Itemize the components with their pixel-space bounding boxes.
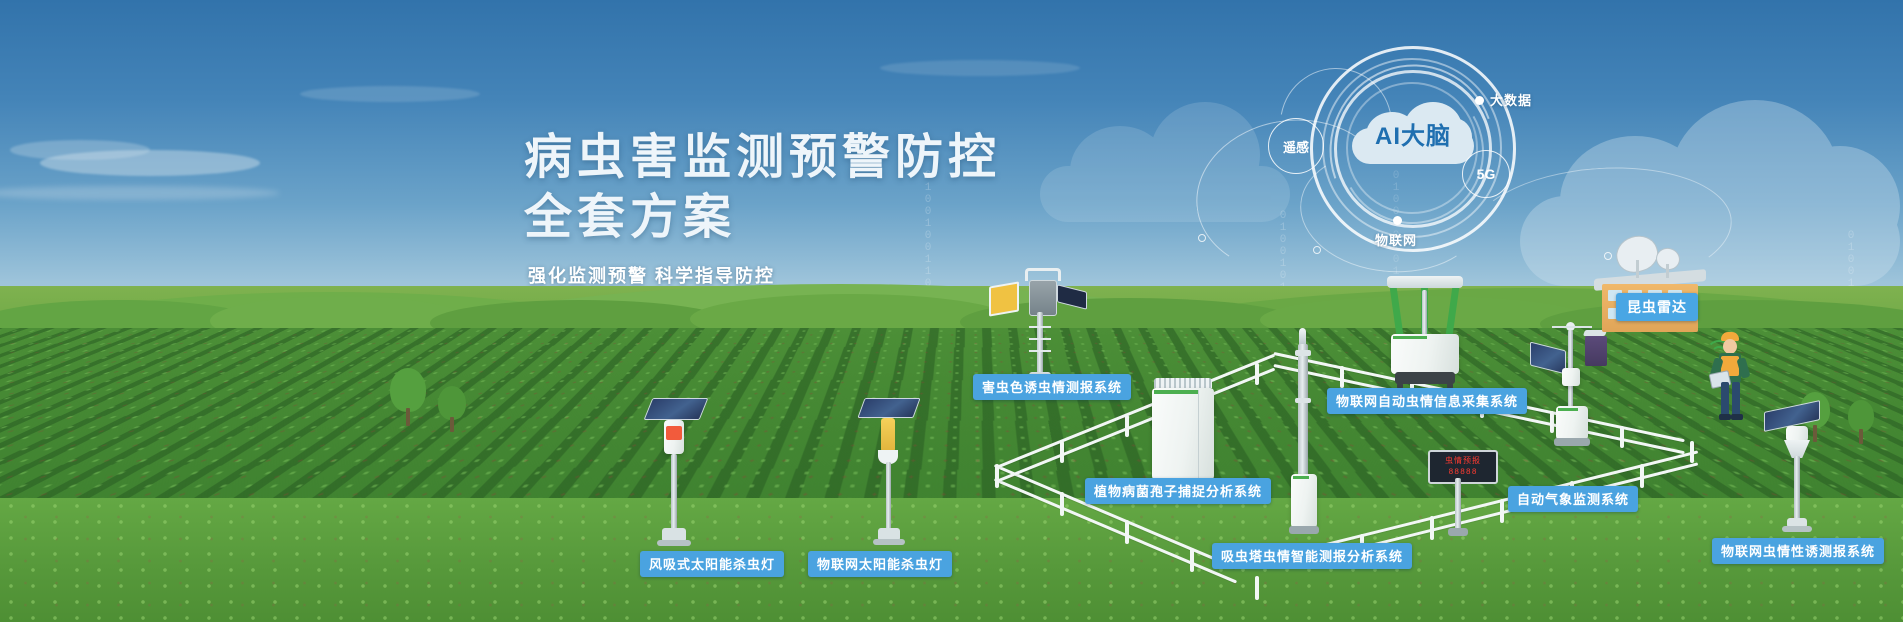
worker-boot bbox=[1719, 414, 1731, 420]
rain-cover bbox=[1387, 276, 1463, 288]
lamp-foot bbox=[657, 540, 691, 546]
label-wind-suction-solar-lamp[interactable]: 风吸式太阳能杀虫灯 bbox=[640, 551, 784, 577]
label-color-lure-forecast[interactable]: 害虫色诱虫情测报系统 bbox=[973, 374, 1131, 400]
lamp-tube bbox=[881, 418, 895, 452]
device-pole bbox=[1037, 312, 1043, 374]
label-iot-auto-pest-collector[interactable]: 物联网自动虫情信息采集系统 bbox=[1327, 388, 1527, 414]
brand-stripe bbox=[1558, 408, 1578, 411]
collector-body bbox=[1391, 334, 1459, 374]
device-pole bbox=[1794, 456, 1800, 520]
dish-arm bbox=[1666, 264, 1669, 278]
led-board-pole bbox=[1455, 478, 1461, 532]
label-auto-weather-station[interactable]: 自动气象监测系统 bbox=[1508, 486, 1638, 512]
infographic-banner: 010010011010 0100101101101 01001010101 0… bbox=[0, 0, 1903, 622]
ladder-rung bbox=[1029, 326, 1051, 328]
device-iot-solar-lamp[interactable] bbox=[855, 398, 925, 548]
lamp-pole bbox=[671, 454, 677, 530]
pheromone-head bbox=[1786, 426, 1808, 442]
tower-collar bbox=[1295, 350, 1311, 356]
field-equipment-box bbox=[1585, 336, 1607, 366]
spore-vent bbox=[1154, 378, 1212, 388]
solar-panel bbox=[644, 398, 709, 420]
lamp-pole bbox=[886, 462, 891, 530]
label-suction-tower[interactable]: 吸虫塔虫情智能测报分析系统 bbox=[1212, 543, 1412, 569]
cabinet-door-seam bbox=[1198, 390, 1199, 478]
weather-cabinet bbox=[1556, 406, 1588, 440]
device-suction-tower[interactable] bbox=[1285, 328, 1321, 536]
radiation-shield bbox=[1562, 368, 1580, 386]
tower-base bbox=[1289, 526, 1319, 534]
device-iot-auto-pest-collector[interactable] bbox=[1385, 276, 1465, 392]
tower-collar bbox=[1295, 398, 1311, 403]
spore-cabinet bbox=[1152, 388, 1214, 480]
lamp-glow bbox=[666, 426, 682, 440]
device-wind-suction-solar-lamp[interactable] bbox=[640, 398, 710, 548]
label-iot-solar-lamp[interactable]: 物联网太阳能杀虫灯 bbox=[808, 551, 952, 577]
green-vane bbox=[1390, 288, 1403, 334]
weather-base bbox=[1554, 438, 1590, 446]
collector-base bbox=[1395, 372, 1455, 384]
worker-leg bbox=[1732, 382, 1740, 416]
tower-cabinet bbox=[1291, 474, 1317, 528]
lamp-foot bbox=[873, 539, 905, 545]
label-spore-capture[interactable]: 植物病菌孢子捕捉分析系统 bbox=[1085, 478, 1271, 504]
brand-stripe bbox=[1393, 336, 1427, 339]
field-worker bbox=[1708, 332, 1752, 422]
device-foot bbox=[1782, 526, 1812, 532]
device-spore-capture[interactable] bbox=[1150, 378, 1216, 490]
device-iot-pheromone-forecast[interactable] bbox=[1760, 406, 1840, 534]
green-vane bbox=[1446, 288, 1459, 334]
ladder-rung bbox=[1029, 350, 1051, 352]
solar-panel bbox=[857, 398, 920, 418]
device-color-lure-forecast[interactable] bbox=[985, 268, 1085, 388]
worker-leg bbox=[1721, 382, 1729, 416]
controller-box bbox=[1029, 280, 1057, 316]
led-line2: 88888 bbox=[1448, 467, 1477, 478]
solar-panel bbox=[1057, 284, 1087, 309]
led-board-base bbox=[1448, 528, 1468, 536]
led-line1: 虫情预报 bbox=[1445, 456, 1481, 467]
brand-stripe bbox=[1154, 390, 1198, 394]
worker-head bbox=[1723, 339, 1737, 354]
ladder-rung bbox=[1029, 338, 1051, 340]
worker-boot bbox=[1731, 414, 1743, 420]
brand-stripe bbox=[1293, 476, 1309, 479]
label-insect-radar[interactable]: 昆虫雷达 bbox=[1616, 293, 1698, 321]
dish-arm bbox=[1636, 260, 1639, 278]
anemometer-arm bbox=[1552, 326, 1592, 328]
label-iot-pheromone-forecast[interactable]: 物联网虫情性诱测报系统 bbox=[1712, 538, 1884, 564]
led-display-board[interactable]: 虫情预报 88888 bbox=[1428, 450, 1498, 484]
funnel-stem bbox=[1422, 290, 1427, 336]
tower-shaft bbox=[1298, 344, 1308, 476]
sticky-trap-card bbox=[989, 281, 1019, 316]
solar-panel bbox=[1530, 342, 1566, 375]
